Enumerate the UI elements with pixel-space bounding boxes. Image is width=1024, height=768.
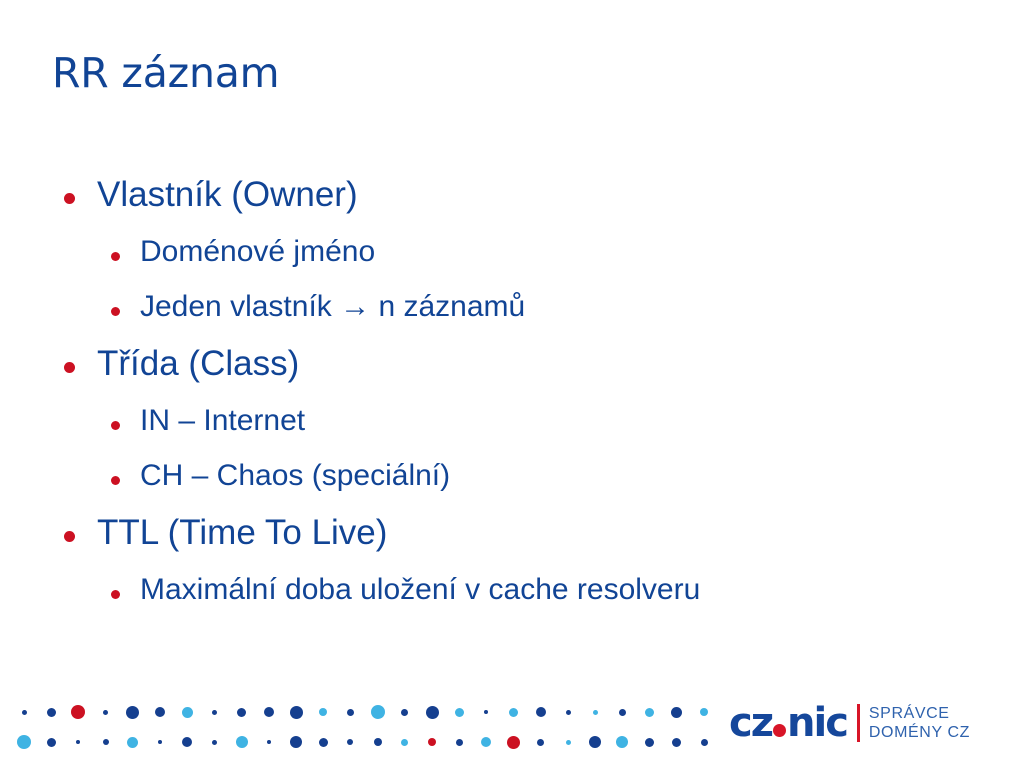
- presentation-slide: RR záznam Vlastník (Owner)Doménové jméno…: [0, 0, 1024, 768]
- pattern-dot: [645, 738, 654, 747]
- bullet-item-level1: Vlastník (Owner): [0, 174, 1024, 230]
- pattern-dot: [401, 739, 408, 746]
- cznic-wordmark: cznic: [729, 703, 847, 743]
- pattern-dot: [47, 738, 56, 747]
- logo-divider: [857, 704, 860, 742]
- bullet-marker-icon: [64, 362, 75, 373]
- bullet-marker-icon: [111, 252, 120, 261]
- pattern-dot: [264, 707, 274, 717]
- bullet-item-level2: IN – Internet: [0, 402, 1024, 457]
- pattern-dot: [126, 706, 139, 719]
- bullet-list: Vlastník (Owner)Doménové jménoJeden vlas…: [0, 174, 1024, 626]
- pattern-dot: [426, 706, 439, 719]
- pattern-dot: [319, 738, 328, 747]
- logo-tagline-line2: DOMÉNY CZ: [869, 723, 970, 742]
- bullet-item-label: IN – Internet: [140, 402, 305, 440]
- pattern-dot: [672, 738, 681, 747]
- bullet-item-label: Třída (Class): [97, 343, 299, 385]
- pattern-dot: [671, 707, 682, 718]
- bullet-item-label: Maximální doba uložení v cache resolveru: [140, 571, 700, 609]
- bullet-item-level2: CH – Chaos (speciální): [0, 457, 1024, 512]
- pattern-dot: [290, 736, 302, 748]
- bullet-item-label: Vlastník (Owner): [97, 174, 358, 216]
- pattern-dot: [319, 708, 327, 716]
- pattern-dot: [347, 739, 353, 745]
- bullet-item-label: Doménové jméno: [140, 233, 375, 271]
- pattern-dot: [428, 738, 436, 746]
- decorative-dot-pattern: [0, 694, 720, 764]
- pattern-dot: [212, 710, 217, 715]
- pattern-dot: [237, 708, 246, 717]
- pattern-dot: [645, 708, 654, 717]
- bullet-item-label: CH – Chaos (speciální): [140, 457, 450, 495]
- pattern-dot: [566, 740, 571, 745]
- cznic-logo: cznic SPRÁVCE DOMÉNY CZ: [729, 696, 970, 750]
- page-title: RR záznam: [52, 49, 279, 97]
- pattern-dot: [47, 708, 56, 717]
- bullet-item-level1: Třída (Class): [0, 343, 1024, 399]
- pattern-dot: [456, 739, 463, 746]
- pattern-dot: [537, 739, 544, 746]
- pattern-dot: [236, 736, 248, 748]
- pattern-dot: [347, 709, 354, 716]
- pattern-dot: [589, 736, 601, 748]
- bullet-marker-icon: [111, 476, 120, 485]
- bullet-marker-icon: [111, 590, 120, 599]
- bullet-marker-icon: [111, 421, 120, 430]
- pattern-dot: [103, 739, 109, 745]
- bullet-item-label: TTL (Time To Live): [97, 512, 387, 554]
- pattern-dot: [182, 707, 193, 718]
- pattern-dot: [127, 737, 138, 748]
- pattern-dot: [71, 705, 85, 719]
- pattern-dot: [616, 736, 628, 748]
- pattern-dot: [212, 740, 217, 745]
- pattern-dot: [566, 710, 571, 715]
- pattern-dot: [17, 735, 31, 749]
- bullet-marker-icon: [64, 531, 75, 542]
- bullet-item-level1: TTL (Time To Live): [0, 512, 1024, 568]
- pattern-dot: [155, 707, 165, 717]
- pattern-dot: [484, 710, 488, 714]
- bullet-item-level2: Maximální doba uložení v cache resolveru: [0, 571, 1024, 626]
- pattern-dot: [481, 737, 491, 747]
- pattern-dot: [509, 708, 518, 717]
- pattern-dot: [103, 710, 108, 715]
- bullet-marker-icon: [64, 193, 75, 204]
- bullet-item-level2: Jeden vlastník → n záznamů: [0, 288, 1024, 343]
- pattern-dot: [700, 708, 708, 716]
- bullet-item-label: Jeden vlastník → n záznamů: [140, 288, 525, 326]
- pattern-dot: [290, 706, 303, 719]
- bullet-item-level2: Doménové jméno: [0, 233, 1024, 288]
- pattern-dot: [507, 736, 520, 749]
- pattern-dot: [267, 740, 271, 744]
- pattern-dot: [701, 739, 708, 746]
- pattern-dot: [401, 709, 408, 716]
- pattern-dot: [182, 737, 192, 747]
- pattern-dot: [371, 705, 385, 719]
- bullet-marker-icon: [111, 307, 120, 316]
- pattern-dot: [536, 707, 546, 717]
- pattern-dot: [619, 709, 626, 716]
- logo-tagline-line1: SPRÁVCE: [869, 704, 970, 723]
- pattern-dot: [374, 738, 382, 746]
- wordmark-cz: cz: [729, 700, 772, 746]
- logo-tagline: SPRÁVCE DOMÉNY CZ: [869, 704, 970, 742]
- dot-icon: [773, 724, 786, 737]
- pattern-dot: [455, 708, 464, 717]
- wordmark-nic: nic: [787, 700, 847, 746]
- pattern-dot: [158, 740, 162, 744]
- pattern-dot: [22, 710, 27, 715]
- pattern-dot: [593, 710, 598, 715]
- pattern-dot: [76, 740, 80, 744]
